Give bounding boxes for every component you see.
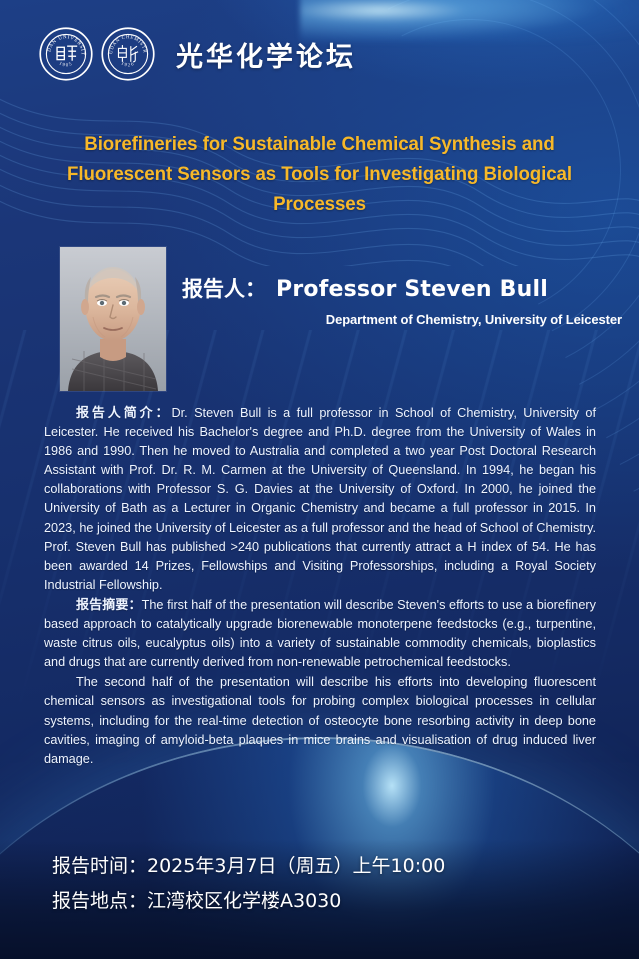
abstract-paragraph-1: 报告摘要：The first half of the presentation … [44, 596, 596, 672]
speaker-block: 报告人：Professor Steven Bull Department of … [182, 276, 622, 328]
fudan-university-seal-icon: FUDAN UNIVERSITY 1905 [38, 26, 94, 82]
speaker-name: Professor Steven Bull [276, 277, 548, 302]
speaker-label: 报告人： [182, 277, 266, 301]
event-details: 报告时间：2025年3月7日（周五）上午10:00 报告地点：江湾校区化学楼A3… [52, 849, 445, 919]
forum-title: 光华化学论坛 [176, 35, 356, 74]
abstract-paragraph-2: The second half of the presentation will… [44, 673, 596, 768]
bio-label: 报告人简介： [76, 406, 171, 421]
svg-text:1905: 1905 [58, 62, 74, 69]
event-time: 报告时间：2025年3月7日（周五）上午10:00 [52, 849, 445, 884]
speaker-portrait-image [60, 247, 166, 391]
svg-text:1926: 1926 [120, 62, 136, 69]
logo-group: FUDAN UNIVERSITY 1905 [38, 26, 156, 82]
talk-title-line-1: Biorefineries for Sustainable Chemical S… [28, 129, 611, 159]
body-copy: 报告人简介：Dr. Steven Bull is a full professo… [44, 404, 596, 769]
event-location: 报告地点：江湾校区化学楼A3030 [52, 884, 445, 919]
speaker-name-row: 报告人：Professor Steven Bull [182, 276, 622, 303]
seminar-poster: FUDAN UNIVERSITY 1905 [0, 0, 639, 959]
fudan-chemistry-seal-icon: FUDAN CHEMISTRY 1926 [100, 26, 156, 82]
talk-title: Biorefineries for Sustainable Chemical S… [16, 129, 623, 219]
talk-title-line-2: Fluorescent Sensors as Tools for Investi… [28, 159, 611, 219]
poster-header: FUDAN UNIVERSITY 1905 [0, 0, 639, 108]
speaker-photo [60, 247, 166, 391]
bio-text: Dr. Steven Bull is a full professor in S… [44, 406, 596, 592]
abstract-label: 报告摘要： [76, 598, 142, 613]
speaker-affiliation: Department of Chemistry, University of L… [182, 311, 622, 328]
bio-paragraph: 报告人简介：Dr. Steven Bull is a full professo… [44, 404, 596, 595]
